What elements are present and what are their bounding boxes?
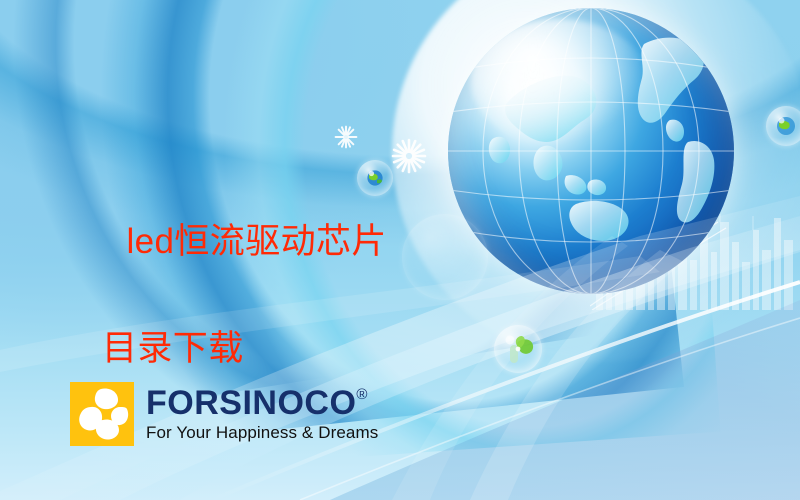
bubble-large-decorative: [402, 214, 488, 300]
bubble-leaf-icon: [494, 325, 542, 373]
brand-tagline: For Your Happiness & Dreams: [146, 424, 378, 443]
four-petal-pinwheel-icon: [70, 382, 134, 446]
sparkle-icon-small: [333, 124, 359, 150]
bubble-leaf-inner: [494, 325, 542, 373]
brand-wordmark: FORSINOCO ® For Your Happiness & Dreams: [146, 386, 378, 443]
poster-canvas: led恒流驱动芯片 目录下载 FORSINOCO ®: [0, 0, 800, 500]
brand-name: FORSINOCO: [146, 386, 356, 420]
brand-logo: FORSINOCO ® For Your Happiness & Dreams: [70, 382, 378, 446]
logo-mark-tile: [70, 382, 134, 446]
headline-line-2: 目录下载: [86, 322, 387, 375]
sparkle-icon: [389, 136, 429, 176]
bubble-globe-inner-right: [766, 106, 800, 146]
bubble-globe-icon-right: [766, 106, 800, 146]
brand-name-row: FORSINOCO ®: [146, 386, 378, 420]
headline-line-1: led恒流驱动芯片: [127, 222, 387, 261]
registered-mark: ®: [356, 387, 368, 402]
